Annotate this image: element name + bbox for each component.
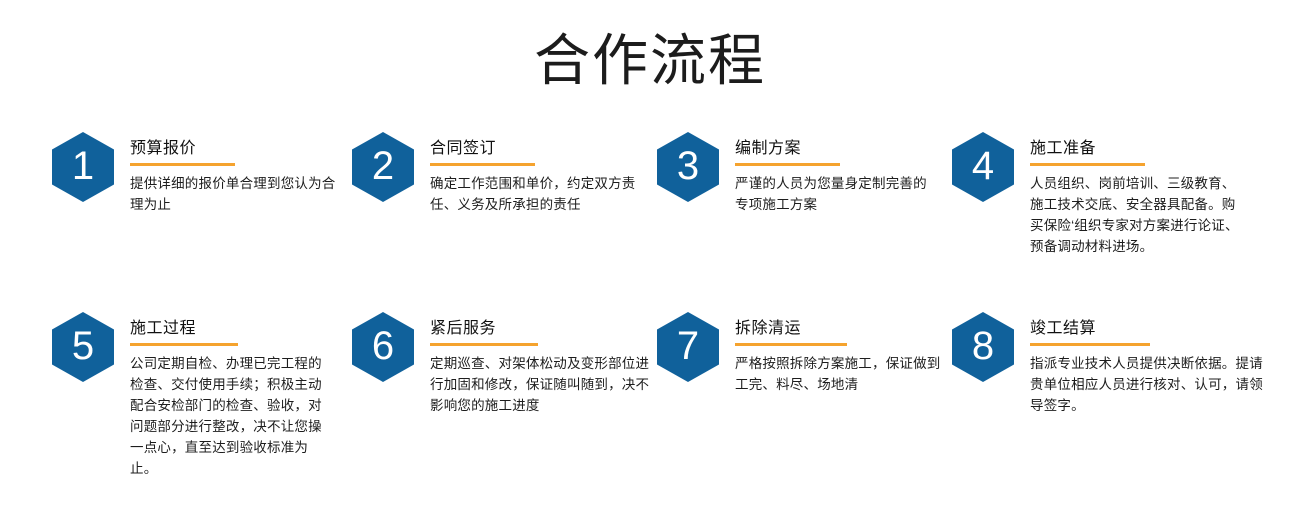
step-title-3: 编制方案 [735, 138, 942, 160]
step-badge-2: 2 [352, 132, 414, 202]
step-description-5: 公司定期自检、办理已完工程的检查、交付使用手续；积极主动配合安检部门的检查、验收… [130, 353, 335, 479]
title-underline-rule [1030, 343, 1150, 346]
step-description-4: 人员组织、岗前培训、三级教育、施工技术交底、安全器具配备。购买保险‘组织专家对方… [1030, 173, 1245, 257]
step-description-6: 定期巡查、对架体松动及变形部位进行加固和修改，保证随叫随到，决不影响您的施工进度 [430, 353, 652, 416]
step-badge-1: 1 [52, 132, 114, 202]
step-content-5: 施工过程 公司定期自检、办理已完工程的检查、交付使用手续；积极主动配合安检部门的… [130, 312, 342, 479]
step-title-7: 拆除清运 [735, 318, 942, 340]
title-underline-rule [430, 343, 538, 346]
step-item-1[interactable]: 1 预算报价 提供详细的报价单合理到您认为合理为止 [52, 132, 342, 215]
step-description-1: 提供详细的报价单合理到您认为合理为止 [130, 173, 345, 215]
step-item-3[interactable]: 3 编制方案 严谨的人员为您量身定制完善的专项施工方案 [657, 132, 942, 215]
step-item-8[interactable]: 8 竣工结算 指派专业技术人员提供决断依据。提请贵单位相应人员进行核对、认可，请… [952, 312, 1252, 416]
cooperation-process-infographic: 合作流程 1 预算报价 提供详细的报价单合理到您认为合理为止 2 [0, 0, 1300, 532]
title-underline-rule [735, 343, 847, 346]
step-content-2: 合同签订 确定工作范围和单价，约定双方责任、义务及所承担的责任 [430, 132, 642, 215]
step-badge-5: 5 [52, 312, 114, 382]
step-description-2: 确定工作范围和单价，约定双方责任、义务及所承担的责任 [430, 173, 652, 215]
step-title-2: 合同签订 [430, 138, 642, 160]
page-title: 合作流程 [0, 28, 1300, 94]
title-underline-rule [130, 343, 238, 346]
step-badge-7: 7 [657, 312, 719, 382]
steps-row-second: 5 施工过程 公司定期自检、办理已完工程的检查、交付使用手续；积极主动配合安检部… [0, 312, 1300, 512]
step-number-8: 8 [952, 312, 1014, 382]
step-description-3: 严谨的人员为您量身定制完善的专项施工方案 [735, 173, 935, 215]
step-number-1: 1 [52, 132, 114, 202]
step-number-4: 4 [952, 132, 1014, 202]
step-title-5: 施工过程 [130, 318, 342, 340]
step-badge-8: 8 [952, 312, 1014, 382]
title-underline-rule [430, 163, 535, 166]
step-badge-4: 4 [952, 132, 1014, 202]
step-content-8: 竣工结算 指派专业技术人员提供决断依据。提请贵单位相应人员进行核对、认可，请领导… [1030, 312, 1252, 416]
title-underline-rule [1030, 163, 1145, 166]
step-title-6: 紧后服务 [430, 318, 642, 340]
step-item-7[interactable]: 7 拆除清运 严格按照拆除方案施工，保证做到工完、料尽、场地清 [657, 312, 942, 395]
step-number-6: 6 [352, 312, 414, 382]
step-number-7: 7 [657, 312, 719, 382]
step-item-4[interactable]: 4 施工准备 人员组织、岗前培训、三级教育、施工技术交底、安全器具配备。购买保险… [952, 132, 1252, 257]
step-number-5: 5 [52, 312, 114, 382]
steps-grid: 1 预算报价 提供详细的报价单合理到您认为合理为止 2 合同签订 确定工作范围和… [0, 132, 1300, 512]
step-badge-3: 3 [657, 132, 719, 202]
step-description-7: 严格按照拆除方案施工，保证做到工完、料尽、场地清 [735, 353, 953, 395]
step-item-5[interactable]: 5 施工过程 公司定期自检、办理已完工程的检查、交付使用手续；积极主动配合安检部… [52, 312, 342, 479]
step-title-4: 施工准备 [1030, 138, 1252, 160]
step-title-8: 竣工结算 [1030, 318, 1252, 340]
step-content-4: 施工准备 人员组织、岗前培训、三级教育、施工技术交底、安全器具配备。购买保险‘组… [1030, 132, 1252, 257]
step-item-2[interactable]: 2 合同签订 确定工作范围和单价，约定双方责任、义务及所承担的责任 [352, 132, 642, 215]
step-title-1: 预算报价 [130, 138, 342, 160]
step-description-8: 指派专业技术人员提供决断依据。提请贵单位相应人员进行核对、认可，请领导签字。 [1030, 353, 1265, 416]
step-item-6[interactable]: 6 紧后服务 定期巡查、对架体松动及变形部位进行加固和修改，保证随叫随到，决不影… [352, 312, 642, 416]
title-underline-rule [735, 163, 840, 166]
step-number-3: 3 [657, 132, 719, 202]
step-content-6: 紧后服务 定期巡查、对架体松动及变形部位进行加固和修改，保证随叫随到，决不影响您… [430, 312, 642, 416]
step-number-2: 2 [352, 132, 414, 202]
steps-row-first: 1 预算报价 提供详细的报价单合理到您认为合理为止 2 合同签订 确定工作范围和… [0, 132, 1300, 312]
step-content-1: 预算报价 提供详细的报价单合理到您认为合理为止 [130, 132, 342, 215]
step-content-7: 拆除清运 严格按照拆除方案施工，保证做到工完、料尽、场地清 [735, 312, 942, 395]
step-content-3: 编制方案 严谨的人员为您量身定制完善的专项施工方案 [735, 132, 942, 215]
step-badge-6: 6 [352, 312, 414, 382]
title-underline-rule [130, 163, 235, 166]
